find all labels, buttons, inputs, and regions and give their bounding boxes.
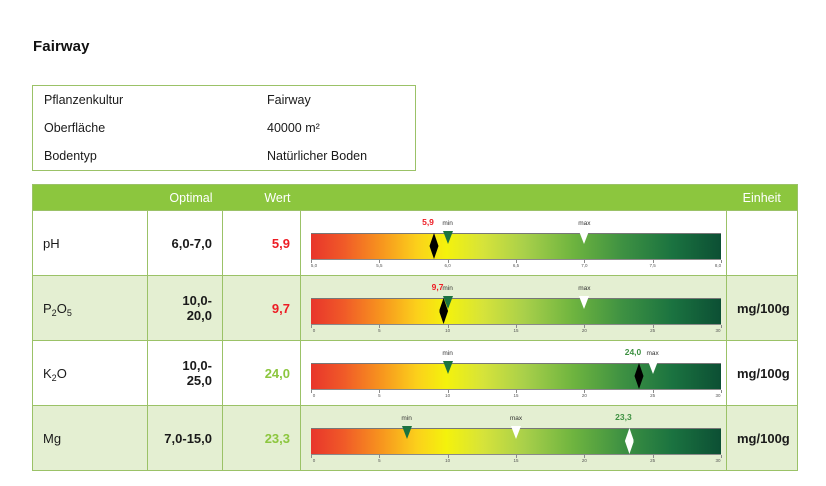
- axis-tick: [721, 455, 722, 458]
- gauge-axis: 051015202530: [311, 324, 721, 336]
- min-marker-label: min: [442, 350, 452, 357]
- nutrient-gauge: 051015202530minmax24,0: [311, 345, 721, 401]
- measured-value: 9,7: [223, 276, 301, 341]
- axis-tick-label: 15: [513, 458, 518, 463]
- axis-tick-label: 30: [715, 393, 720, 398]
- info-key-oberflaeche: Oberfläche: [44, 121, 267, 135]
- gauge-axis: 051015202530: [311, 389, 721, 401]
- axis-tick-label: 6,0: [445, 263, 451, 268]
- info-value-bodentyp: Natürlicher Boden: [267, 149, 367, 163]
- axis-tick-label: 5: [378, 458, 381, 463]
- info-row: Pflanzenkultur Fairway: [33, 86, 415, 114]
- axis-tick-label: 0: [313, 328, 316, 333]
- column-header-einheit: Einheit: [727, 185, 798, 211]
- unit-label: [727, 211, 798, 276]
- gauge-cell: 5,05,56,06,57,07,58,0minmax5,9: [301, 211, 727, 276]
- info-key-pflanzenkultur: Pflanzenkultur: [44, 93, 267, 107]
- axis-tick-label: 0: [313, 458, 316, 463]
- nutrient-label: Mg: [33, 406, 148, 471]
- min-marker-label: min: [442, 285, 452, 292]
- axis-tick-label: 15: [513, 393, 518, 398]
- column-header-optimal: Optimal: [148, 185, 223, 211]
- axis-tick-label: 25: [650, 393, 655, 398]
- gauge-axis: 051015202530: [311, 454, 721, 466]
- axis-tick-label: 25: [650, 328, 655, 333]
- max-marker-icon: [579, 231, 589, 244]
- axis-tick-label: 10: [445, 458, 450, 463]
- nutrient-gauge: 051015202530minmax9,7: [311, 280, 721, 336]
- axis-tick: [721, 325, 722, 328]
- optimal-range: 7,0-15,0: [148, 406, 223, 471]
- axis-tick-label: 6,5: [513, 263, 519, 268]
- axis-tick-label: 5: [378, 393, 381, 398]
- nutrient-label: P2O5: [33, 276, 148, 341]
- column-header-name: [33, 185, 148, 211]
- max-marker-label: max: [647, 350, 659, 357]
- measured-value: 5,9: [223, 211, 301, 276]
- gauge-cell: 051015202530minmax9,7: [301, 276, 727, 341]
- nutrient-table: Optimal Wert Einheit pH6,0-7,05,95,05,56…: [32, 184, 798, 471]
- info-key-bodentyp: Bodentyp: [44, 149, 267, 163]
- axis-tick-label: 10: [445, 393, 450, 398]
- min-marker-icon: [443, 361, 453, 374]
- optimal-range: 6,0-7,0: [148, 211, 223, 276]
- axis-tick-label: 5: [378, 328, 381, 333]
- axis-tick-label: 5,0: [311, 263, 317, 268]
- max-marker-label: max: [578, 220, 590, 227]
- min-marker-label: min: [401, 415, 411, 422]
- gauge-axis: 5,05,56,06,57,07,58,0: [311, 259, 721, 271]
- min-marker-label: min: [442, 220, 452, 227]
- unit-label: mg/100g: [727, 276, 798, 341]
- axis-tick: [721, 390, 722, 393]
- page-title: Fairway: [33, 38, 90, 55]
- gauge-cell: 051015202530minmax23,3: [301, 406, 727, 471]
- axis-tick-label: 25: [650, 458, 655, 463]
- table-row: K2O10,0-25,024,0051015202530minmax24,0mg…: [33, 341, 798, 406]
- info-value-pflanzenkultur: Fairway: [267, 93, 311, 107]
- gauge-cell: 051015202530minmax24,0: [301, 341, 727, 406]
- gauge-gradient-bar: [311, 298, 721, 324]
- measured-value: 23,3: [223, 406, 301, 471]
- table-header-row: Optimal Wert Einheit: [33, 185, 798, 211]
- measured-value: 24,0: [223, 341, 301, 406]
- value-marker-label: 5,9: [422, 217, 434, 227]
- nutrient-label: pH: [33, 211, 148, 276]
- axis-tick-label: 30: [715, 328, 720, 333]
- axis-tick-label: 7,5: [650, 263, 656, 268]
- min-marker-icon: [443, 231, 453, 244]
- optimal-range: 10,0-20,0: [148, 276, 223, 341]
- table-row: pH6,0-7,05,95,05,56,06,57,07,58,0minmax5…: [33, 211, 798, 276]
- info-value-oberflaeche: 40000 m²: [267, 121, 320, 135]
- axis-tick-label: 20: [582, 328, 587, 333]
- axis-tick-label: 15: [513, 328, 518, 333]
- value-marker-label: 24,0: [625, 347, 642, 357]
- axis-tick-label: 5,5: [376, 263, 382, 268]
- axis-tick-label: 0: [313, 393, 316, 398]
- axis-tick-label: 7,0: [581, 263, 587, 268]
- table-row: P2O510,0-20,09,7051015202530minmax9,7mg/…: [33, 276, 798, 341]
- axis-tick-label: 20: [582, 458, 587, 463]
- column-header-wert: Wert: [223, 185, 301, 211]
- unit-label: mg/100g: [727, 341, 798, 406]
- max-marker-icon: [579, 296, 589, 309]
- nutrient-label: K2O: [33, 341, 148, 406]
- gauge-gradient-bar: [311, 233, 721, 259]
- info-row: Bodentyp Natürlicher Boden: [33, 142, 415, 170]
- nutrient-gauge: 051015202530minmax23,3: [311, 410, 721, 466]
- min-marker-icon: [402, 426, 412, 439]
- value-marker-label: 23,3: [615, 412, 632, 422]
- max-marker-label: max: [510, 415, 522, 422]
- optimal-range: 10,0-25,0: [148, 341, 223, 406]
- max-marker-icon: [648, 361, 658, 374]
- unit-label: mg/100g: [727, 406, 798, 471]
- max-marker-label: max: [578, 285, 590, 292]
- axis-tick-label: 8,0: [715, 263, 721, 268]
- info-row: Oberfläche 40000 m²: [33, 114, 415, 142]
- axis-tick-label: 30: [715, 458, 720, 463]
- column-header-chart: [301, 185, 727, 211]
- gauge-gradient-bar: [311, 363, 721, 389]
- axis-tick: [721, 260, 722, 263]
- axis-tick-label: 10: [445, 328, 450, 333]
- nutrient-gauge: 5,05,56,06,57,07,58,0minmax5,9: [311, 215, 721, 271]
- axis-tick-label: 20: [582, 393, 587, 398]
- info-box: Pflanzenkultur Fairway Oberfläche 40000 …: [32, 85, 416, 171]
- max-marker-icon: [511, 426, 521, 439]
- value-marker-label: 9,7: [432, 282, 444, 292]
- table-row: Mg7,0-15,023,3051015202530minmax23,3mg/1…: [33, 406, 798, 471]
